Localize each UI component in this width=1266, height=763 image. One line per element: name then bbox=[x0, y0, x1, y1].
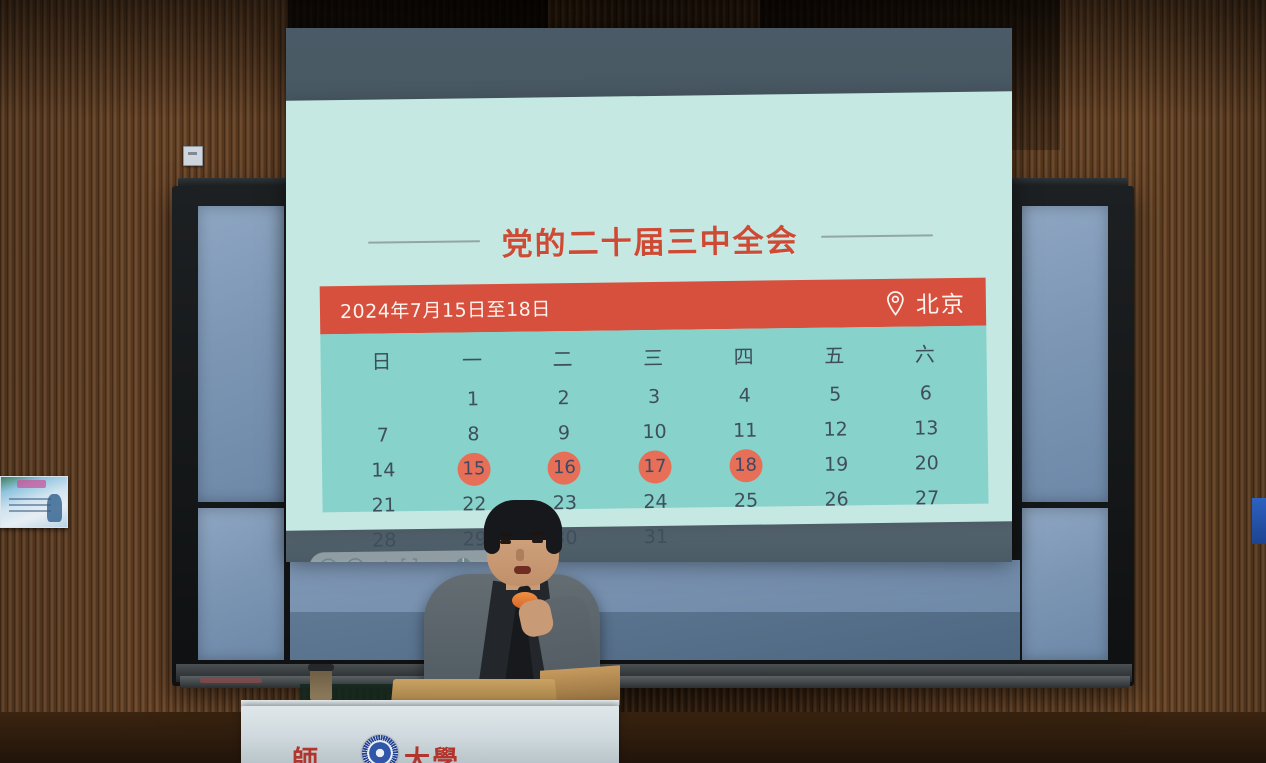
calendar-grid: 日一二三四五六123456789101112131415161718192021… bbox=[336, 334, 973, 556]
podium-text-left: 師 bbox=[292, 740, 358, 763]
calendar-day: 24 bbox=[610, 485, 701, 517]
screenshot-root: 党的二十届三中全会 2024年7月15日至18日 北京 日一二三四五六1234 bbox=[0, 0, 1266, 763]
calendar-day-highlighted: 17 bbox=[610, 450, 701, 482]
calendar-day: 31 bbox=[610, 520, 701, 552]
slide-info-bar: 2024年7月15日至18日 北京 bbox=[320, 278, 987, 335]
calendar-day: 7 bbox=[337, 419, 428, 451]
calendar-day: 6 bbox=[880, 377, 971, 409]
whiteboard-panel-left-top bbox=[198, 206, 284, 502]
calendar-day: 19 bbox=[791, 448, 882, 480]
calendar-day: 11 bbox=[700, 414, 791, 446]
calendar-day: 21 bbox=[338, 489, 429, 521]
podium-cup bbox=[310, 668, 332, 700]
record-circle-icon[interactable] bbox=[317, 556, 339, 562]
calendar-cell-empty bbox=[337, 384, 428, 416]
speaker-eye-left bbox=[500, 540, 511, 544]
calendar-weekday-header: 六 bbox=[880, 334, 971, 374]
event-city: 北京 bbox=[916, 285, 966, 320]
speaker-brow-left bbox=[499, 533, 512, 536]
calendar-day: 20 bbox=[881, 447, 972, 479]
calendar-weekday-header: 三 bbox=[608, 337, 699, 377]
whiteboard-panel-right-top bbox=[1022, 206, 1108, 502]
whiteboard-panel-center-lower-2 bbox=[290, 612, 1020, 660]
calendar-day: 3 bbox=[609, 380, 700, 412]
whiteboard-panel-left-bottom bbox=[198, 508, 284, 660]
whiteboard-panel-right-bottom bbox=[1022, 508, 1108, 660]
wall-switch-plate[interactable] bbox=[183, 146, 203, 166]
calendar-day: 1 bbox=[427, 383, 518, 415]
presentation-slide: 党的二十届三中全会 2024年7月15日至18日 北京 日一二三四五六1234 bbox=[286, 91, 1012, 531]
screenshot-icon[interactable] bbox=[398, 555, 420, 562]
speaker-eye-right bbox=[532, 539, 543, 543]
projection-area: 党的二十届三中全会 2024年7月15日至18日 北京 日一二三四五六1234 bbox=[286, 28, 1012, 562]
event-location-group: 北京 bbox=[885, 285, 966, 320]
podium-text-right: 大學 bbox=[404, 740, 500, 763]
calendar-day: 8 bbox=[428, 418, 519, 450]
floor-shadow bbox=[0, 712, 1266, 763]
calendar-day-number: 15 bbox=[462, 458, 485, 479]
calendar-day-highlighted: 18 bbox=[700, 449, 791, 481]
calendar-day: 27 bbox=[882, 482, 973, 514]
eraser-icon[interactable] bbox=[452, 554, 474, 562]
calendar-day: 25 bbox=[701, 484, 792, 516]
calendar-weekday-header: 五 bbox=[789, 335, 880, 375]
chalk-piece bbox=[200, 678, 262, 683]
calendar-day: 12 bbox=[790, 413, 881, 445]
calendar-day: 5 bbox=[790, 378, 881, 410]
speaker-brow-right bbox=[531, 532, 544, 535]
calendar-day: 14 bbox=[338, 454, 429, 486]
pen-icon[interactable] bbox=[371, 555, 393, 562]
title-rule-right bbox=[821, 234, 933, 237]
right-wall-blue-object bbox=[1252, 498, 1266, 544]
speaker-hair-side-left bbox=[484, 520, 500, 554]
university-emblem bbox=[362, 735, 398, 763]
calendar-day: 26 bbox=[791, 483, 882, 515]
calendar-day-number: 16 bbox=[553, 457, 576, 478]
floating-toolbar[interactable] bbox=[309, 550, 509, 562]
slide-title: 党的二十届三中全会 bbox=[501, 215, 799, 264]
speaker-hair-side-right bbox=[546, 520, 562, 554]
calendar-weekday-header: 二 bbox=[518, 339, 609, 379]
poster-figure bbox=[47, 494, 62, 522]
event-date: 2024年7月15日至18日 bbox=[340, 294, 551, 324]
calendar-weekday-header: 日 bbox=[336, 341, 427, 381]
speaker-mouth bbox=[514, 566, 531, 574]
calendar-day-number: 17 bbox=[643, 456, 666, 477]
marker-dot-icon[interactable] bbox=[344, 556, 366, 562]
video-camera-icon[interactable] bbox=[425, 555, 447, 562]
calendar-day: 4 bbox=[699, 379, 790, 411]
calendar-panel: 日一二三四五六123456789101112131415161718192021… bbox=[320, 326, 988, 513]
speaker-nose bbox=[516, 549, 524, 561]
calendar-day: 2 bbox=[518, 382, 609, 414]
location-pin-icon bbox=[885, 290, 906, 315]
wall-poster bbox=[0, 476, 68, 528]
calendar-weekday-header: 一 bbox=[427, 340, 518, 380]
calendar-day: 10 bbox=[609, 415, 700, 447]
calendar-day-highlighted: 15 bbox=[428, 453, 519, 485]
title-rule-left bbox=[368, 240, 480, 243]
podium-cup-lid bbox=[308, 664, 334, 671]
calendar-day: 13 bbox=[881, 412, 972, 444]
calendar-day-highlighted: 16 bbox=[519, 452, 610, 484]
slide-title-row: 党的二十届三中全会 bbox=[286, 211, 1012, 267]
calendar-day: 9 bbox=[519, 417, 610, 449]
calendar-weekday-header: 四 bbox=[699, 336, 790, 376]
calendar-day-number: 18 bbox=[734, 455, 757, 476]
